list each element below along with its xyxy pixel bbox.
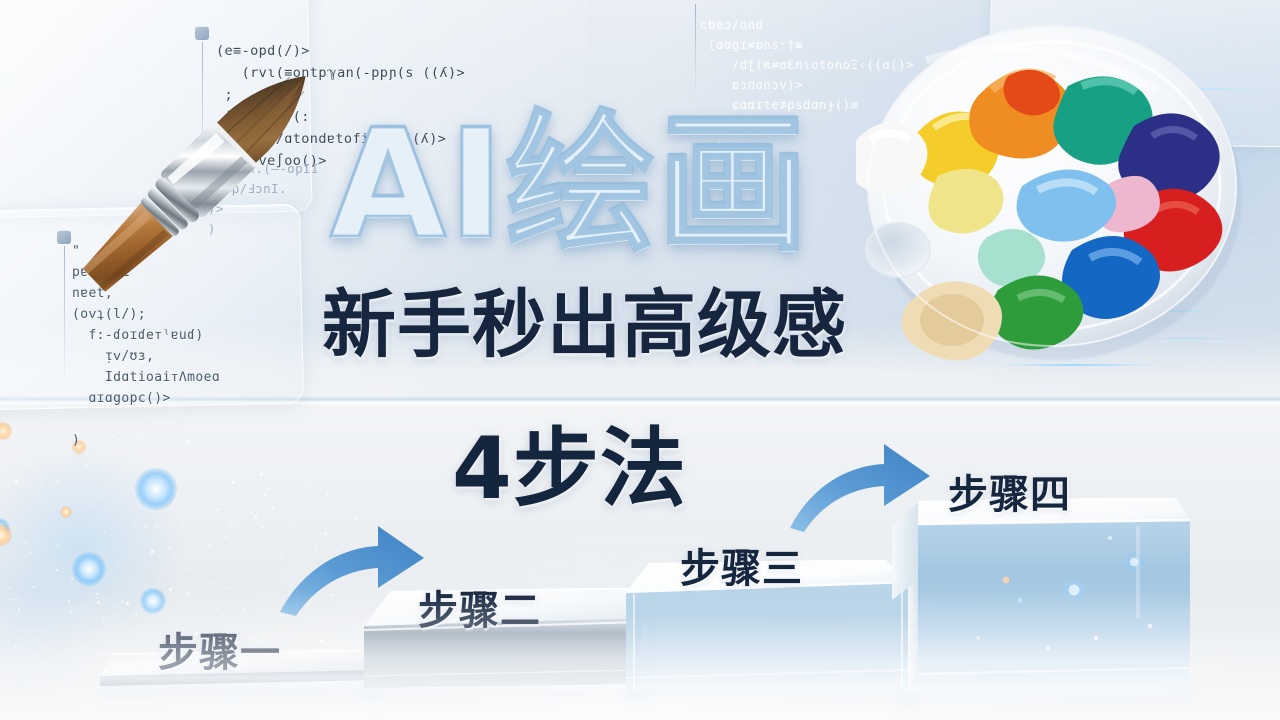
page-subtitle: 新手秒出高级感 (322, 288, 847, 362)
arrow-step3-to-step4 (788, 440, 938, 532)
page-title-glass: AI绘画 (330, 110, 810, 260)
poster-canvas: (e≡-opd(/)> (rvɩ(≡ontpℽan(-ppɲ(s ((ʎ)> ;… (0, 0, 1280, 720)
paint-palette (856, 14, 1256, 374)
paint-palette-svg (856, 14, 1256, 374)
step-label-3: 步骤三 (680, 536, 803, 594)
steps-title: 4步法 (452, 426, 687, 512)
step-label-4: 步骤四 (948, 462, 1071, 520)
floor-sheen (0, 590, 1280, 720)
panel-rail-right (695, 4, 696, 94)
paint-brush-svg (52, 26, 352, 326)
paint-brush (52, 26, 352, 326)
